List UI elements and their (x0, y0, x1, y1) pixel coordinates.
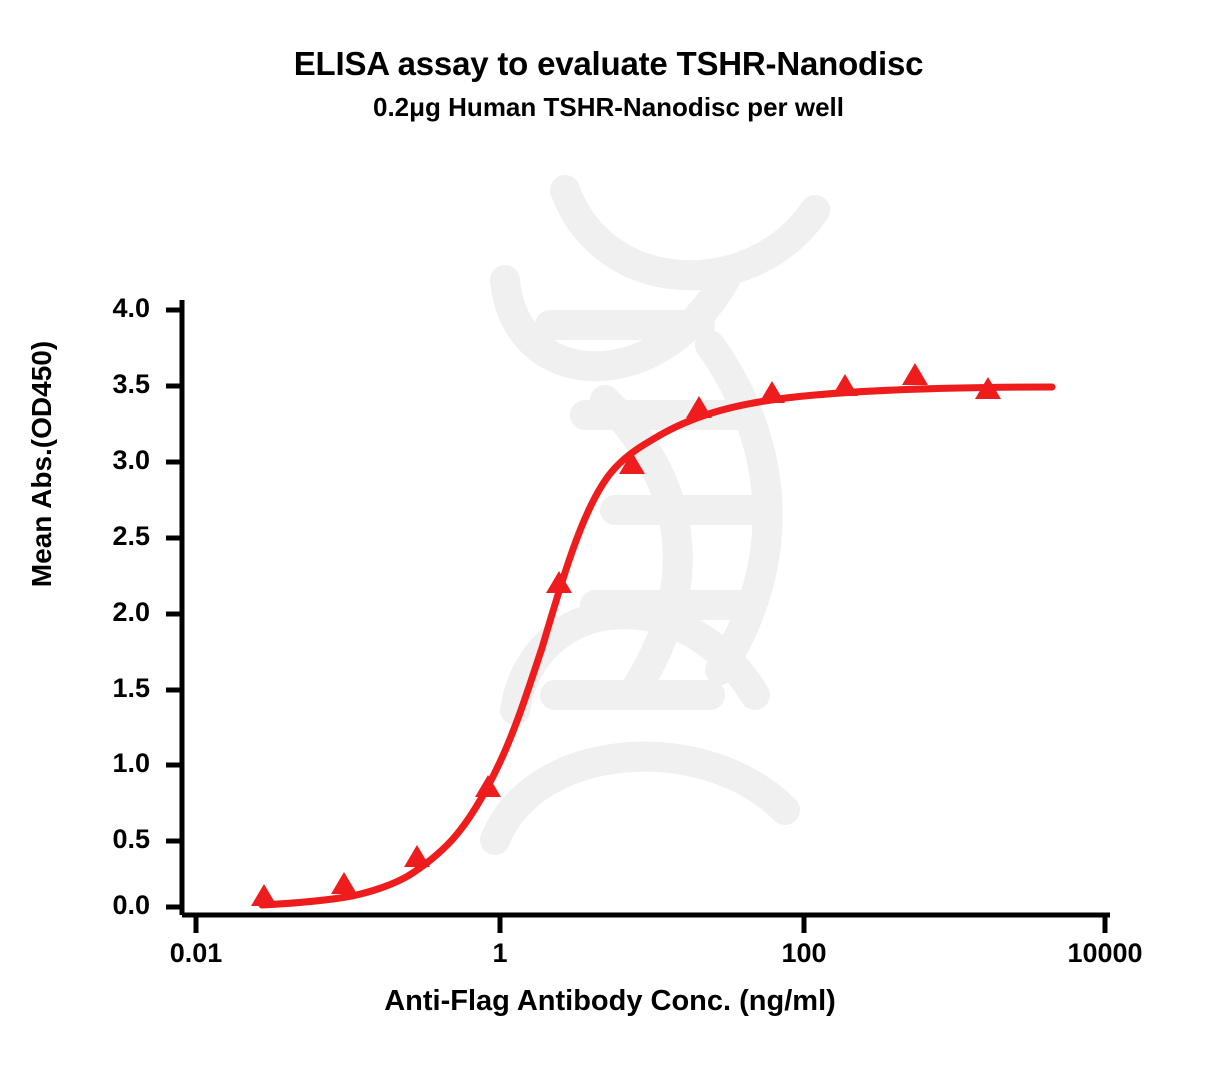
chart-figure: ELISA assay to evaluate TSHR-Nanodisc 0.… (0, 0, 1217, 1075)
data-curve (262, 387, 1052, 905)
data-markers (251, 363, 1001, 906)
plot-area (0, 0, 1217, 1075)
